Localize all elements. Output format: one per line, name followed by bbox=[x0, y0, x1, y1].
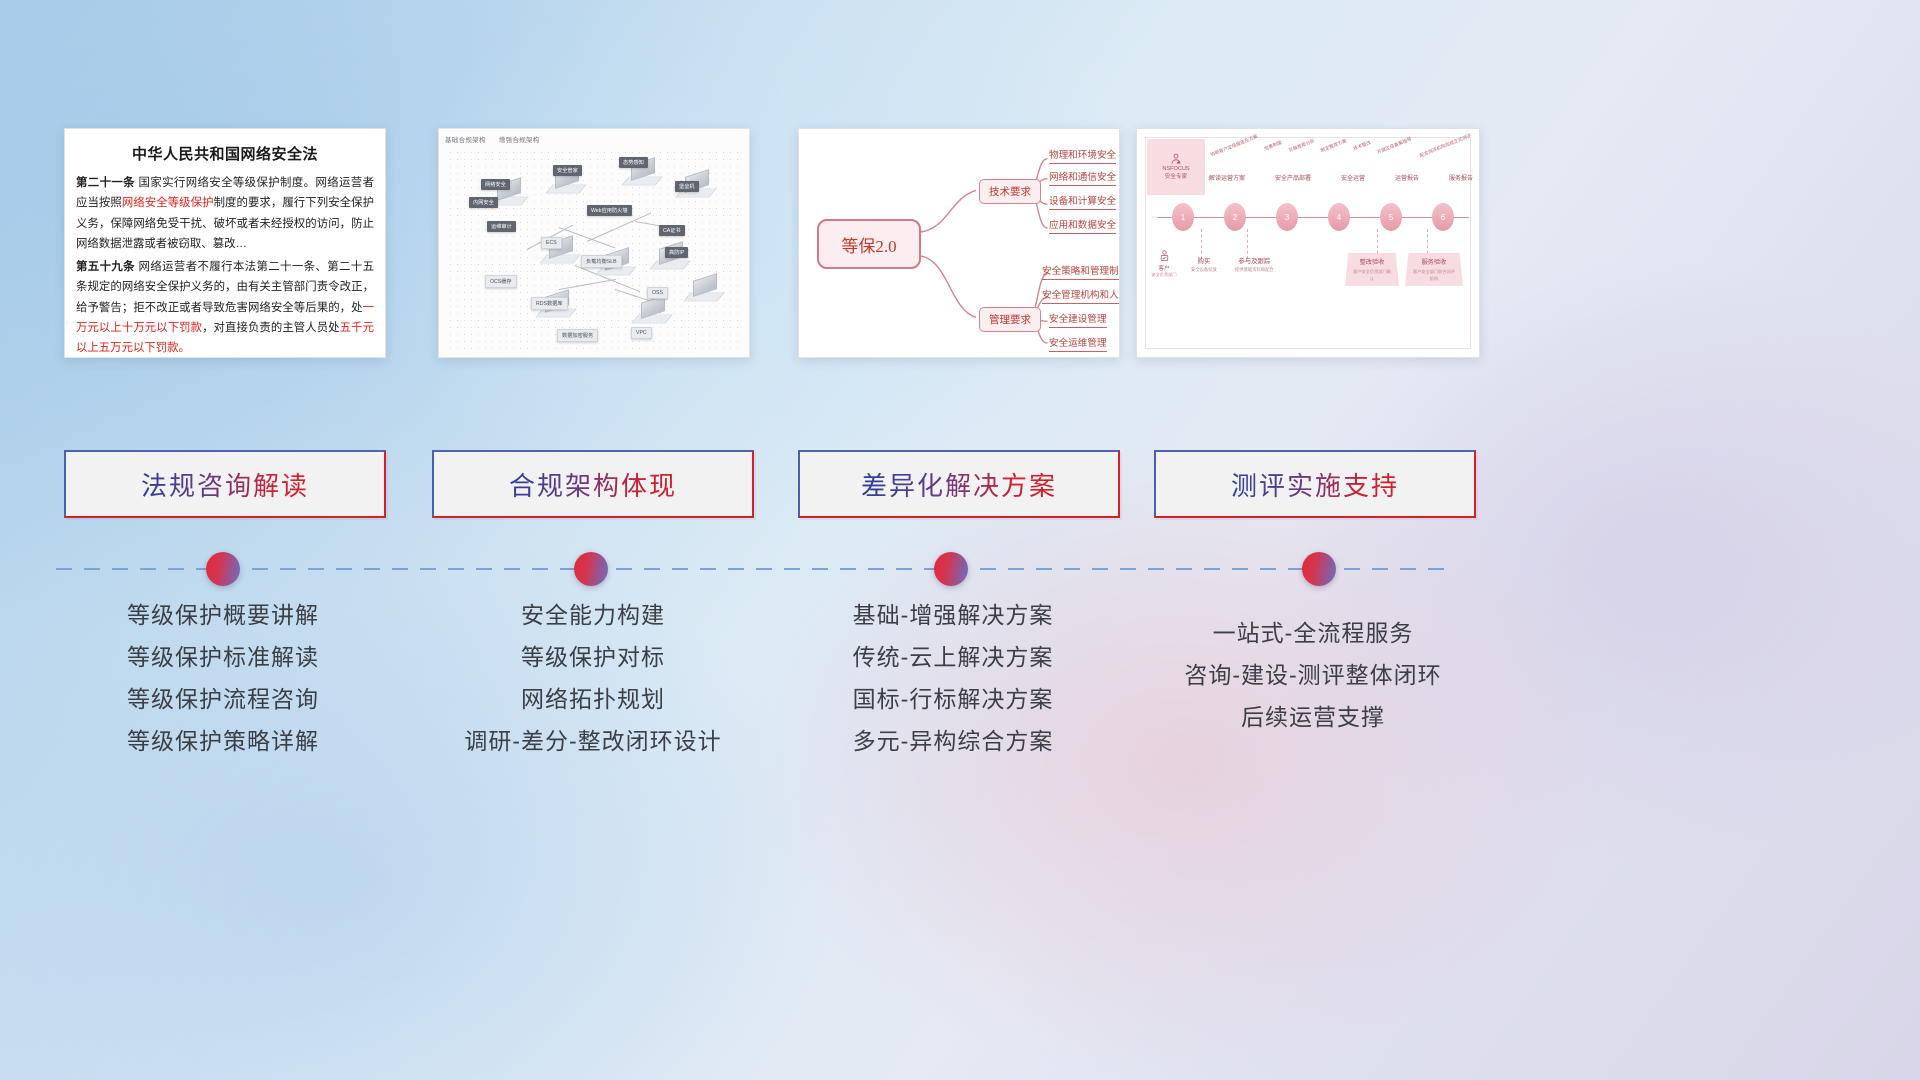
law-article-59-text-b: ，对直接负责的主管人员处 bbox=[202, 322, 340, 334]
arch-node: 负载均衡SLB bbox=[581, 255, 622, 268]
law-article-21-highlight: 网络安全等级保护 bbox=[122, 197, 214, 209]
arch-header-basic: 基础合规架构 bbox=[445, 137, 486, 144]
section-label-text: 差异化解决方案 bbox=[861, 466, 1057, 503]
nsfocus-bottom-trapezoid: 整改验收 客户安全负责部门确认 bbox=[1345, 253, 1399, 286]
section-label-text: 法规咨询解读 bbox=[141, 466, 309, 503]
nsfocus-mid-label: 安全产品部署 bbox=[1275, 173, 1311, 182]
mindmap-leaf: 安全策略和管理制度 bbox=[1042, 263, 1120, 280]
arch-node: Web应用防火墙 bbox=[587, 205, 632, 216]
section-list-2: 安全能力构建 等级保护对标 网络拓扑规划 调研-差分-整改闭环设计 bbox=[393, 604, 793, 772]
nsfocus-bottom-tag-sub: 提供基础资料和配合 bbox=[1235, 267, 1274, 273]
list-item: 传统-云上解决方案 bbox=[753, 646, 1153, 669]
nsfocus-bottom-tag-sub: 安全设备投放 bbox=[1191, 267, 1217, 273]
nsfocus-step: 1 bbox=[1172, 203, 1194, 231]
nsfocus-mid-label: 解读运营方案 bbox=[1209, 173, 1245, 182]
architecture-header-labels: 基础合规架构增强合规架构 bbox=[445, 134, 553, 144]
nsfocus-bottom-tag: 参与及跟踪 提供基础资料和配合 bbox=[1235, 257, 1274, 273]
arch-node: 内网安全 bbox=[469, 197, 498, 208]
mindmap-leaf: 网络和通信安全 bbox=[1049, 169, 1116, 186]
list-item: 国标-行标解决方案 bbox=[753, 688, 1153, 711]
card-mindmap-dengbao: 等保2.0 技术要求 管理要求 物理和环境安全 网络和通信安全 设备和计算安全 … bbox=[798, 128, 1120, 358]
timeline-dot-1[interactable] bbox=[206, 552, 240, 586]
nsfocus-dash bbox=[1247, 229, 1248, 259]
mindmap-leaf: 物理和环境安全 bbox=[1049, 147, 1116, 164]
arch-node: 堡垒机 bbox=[675, 181, 699, 192]
mindmap-root: 等保2.0 bbox=[817, 219, 921, 269]
nsfocus-step: 4 bbox=[1328, 203, 1350, 231]
mindmap: 等保2.0 技术要求 管理要求 物理和环境安全 网络和通信安全 设备和计算安全 … bbox=[799, 129, 1119, 357]
arch-node: VPC bbox=[631, 327, 652, 339]
nsfocus-customer-label: 客户 bbox=[1149, 264, 1179, 272]
section-label-box-2[interactable]: 合规架构体现 bbox=[432, 450, 754, 518]
arch-node: 网络安全 bbox=[481, 179, 510, 190]
law-article-59: 第五十九条 网络运营者不履行本法第二十一条、第二十五条规定的网络安全保护义务的，… bbox=[76, 257, 374, 358]
section-list-4: 一站式-全流程服务 咨询-建设-测评整体闭环 后续运营支撑 bbox=[1113, 622, 1513, 748]
nsfocus-bottom-trapezoid: 服务验收 客户安全部门联合测评机构 bbox=[1405, 253, 1463, 286]
list-item: 等级保护概要讲解 bbox=[23, 604, 423, 627]
nsfocus-bottom-tag-sub: 客户安全负责部门确认 bbox=[1353, 269, 1391, 282]
nsfocus-diagram: NSFOCUS 安全专家 协助客户定级报告及方案 完善制度 开展差距分析 制定整… bbox=[1137, 129, 1479, 357]
timeline-dot-3[interactable] bbox=[934, 552, 968, 586]
arch-node: 高防IP bbox=[665, 247, 688, 258]
arch-node: 运维审计 bbox=[487, 221, 516, 232]
nsfocus-step: 6 bbox=[1432, 203, 1454, 231]
arch-node: RDS数据库 bbox=[531, 297, 568, 310]
section-label-text: 测评实施支持 bbox=[1231, 466, 1399, 503]
nsfocus-customer: 客户 安全负责部门 bbox=[1149, 249, 1179, 278]
arch-node: CA证书 bbox=[659, 225, 685, 236]
nsfocus-mid-label: 服务报告 bbox=[1449, 173, 1473, 182]
section-list-1: 等级保护概要讲解 等级保护标准解读 等级保护流程咨询 等级保护策略详解 bbox=[23, 604, 423, 772]
nsfocus-bottom-tag-main: 服务验收 bbox=[1422, 259, 1447, 266]
section-label-box-4[interactable]: 测评实施支持 bbox=[1154, 450, 1476, 518]
law-article-21-label: 第二十一条 bbox=[76, 177, 135, 189]
timeline-dot-4[interactable] bbox=[1302, 552, 1336, 586]
architecture-diagram: 基础合规架构增强合规架构 bbox=[439, 129, 749, 357]
section-label-box-3[interactable]: 差异化解决方案 bbox=[798, 450, 1120, 518]
list-item: 等级保护策略详解 bbox=[23, 730, 423, 753]
nsfocus-brand-name: NSFOCUS bbox=[1162, 166, 1189, 174]
mindmap-leaf: 应用和数据安全 bbox=[1049, 217, 1116, 234]
nsfocus-mid-label: 安全运营 bbox=[1341, 173, 1365, 182]
section-label-text: 合规架构体现 bbox=[509, 466, 677, 503]
nsfocus-bottom-tag-sub: 客户安全部门联合测评机构 bbox=[1413, 269, 1455, 282]
nsfocus-bottom-tag-main: 参与及跟踪 bbox=[1238, 258, 1270, 265]
nsfocus-dash bbox=[1201, 229, 1202, 259]
law-article-59-label: 第五十九条 bbox=[76, 261, 135, 273]
nsfocus-mid-label: 运营报告 bbox=[1395, 173, 1419, 182]
arch-node: 安全管家 bbox=[553, 165, 582, 176]
timeline-dot-2[interactable] bbox=[574, 552, 608, 586]
list-item: 一站式-全流程服务 bbox=[1113, 622, 1513, 645]
person-check-icon bbox=[1158, 249, 1171, 262]
nsfocus-top-labels: 协助客户定级报告及方案 完善制度 开展差距分析 制定整改方案 技术整改 开展定级… bbox=[1209, 143, 1473, 149]
list-item: 等级保护流程咨询 bbox=[23, 688, 423, 711]
section-label-box-1[interactable]: 法规咨询解读 bbox=[64, 450, 386, 518]
timeline-dashed-line bbox=[56, 568, 1456, 570]
arch-node: OSS bbox=[647, 287, 668, 299]
list-item: 咨询-建设-测评整体闭环 bbox=[1113, 664, 1513, 687]
law-card-title: 中华人民共和国网络安全法 bbox=[65, 143, 385, 164]
nsfocus-bottom-tag-main: 整改验收 bbox=[1360, 259, 1385, 266]
list-item: 基础-增强解决方案 bbox=[753, 604, 1153, 627]
list-item: 调研-差分-整改闭环设计 bbox=[393, 730, 793, 753]
card-cybersecurity-law: 中华人民共和国网络安全法 第二十一条 国家实行网络安全等级保护制度。网络运营者应… bbox=[64, 128, 386, 358]
cards-row: 中华人民共和国网络安全法 第二十一条 国家实行网络安全等级保护制度。网络运营者应… bbox=[0, 0, 1920, 400]
nsfocus-step: 5 bbox=[1380, 203, 1402, 231]
arch-header-enhanced: 增强合规架构 bbox=[499, 137, 540, 144]
nsfocus-customer-sub: 安全负责部门 bbox=[1149, 272, 1179, 278]
list-item: 多元-异构综合方案 bbox=[753, 730, 1153, 753]
person-star-icon bbox=[1169, 152, 1183, 166]
mindmap-leaf: 安全建设管理 bbox=[1049, 311, 1107, 328]
mindmap-leaf: 安全运维管理 bbox=[1049, 335, 1107, 352]
list-item: 等级保护标准解读 bbox=[23, 646, 423, 669]
list-item: 网络拓扑规划 bbox=[393, 688, 793, 711]
list-item: 等级保护对标 bbox=[393, 646, 793, 669]
mindmap-leaf: 安全管理机构和人员 bbox=[1042, 287, 1120, 304]
law-card-body: 第二十一条 国家实行网络安全等级保护制度。网络运营者应当按照网络安全等级保护制度… bbox=[65, 173, 385, 358]
nsfocus-brand-sub: 安全专家 bbox=[1165, 174, 1187, 182]
nsfocus-mid-labels: 解读运营方案 安全产品部署 安全运营 运营报告 服务报告 bbox=[1209, 173, 1473, 182]
nsfocus-step: 2 bbox=[1224, 203, 1246, 231]
nsfocus-bottom-tag-main: 购买 bbox=[1198, 258, 1211, 265]
mindmap-branch-management: 管理要求 bbox=[979, 307, 1041, 332]
nsfocus-step: 3 bbox=[1276, 203, 1298, 231]
arch-node: ECS bbox=[541, 237, 562, 249]
arch-node: 态势感知 bbox=[619, 157, 648, 168]
card-nsfocus-process: NSFOCUS 安全专家 协助客户定级报告及方案 完善制度 开展差距分析 制定整… bbox=[1136, 128, 1480, 358]
arch-node: OCS缓存 bbox=[485, 275, 517, 288]
arch-node: 数据加密服务 bbox=[557, 329, 598, 342]
card-compliance-architecture: 基础合规架构增强合规架构 bbox=[438, 128, 750, 358]
section-list-3: 基础-增强解决方案 传统-云上解决方案 国标-行标解决方案 多元-异构综合方案 bbox=[753, 604, 1153, 772]
nsfocus-bottom-tag: 购买 安全设备投放 bbox=[1191, 257, 1217, 273]
law-article-21: 第二十一条 国家实行网络安全等级保护制度。网络运营者应当按照网络安全等级保护制度… bbox=[76, 173, 374, 254]
list-item: 安全能力构建 bbox=[393, 604, 793, 627]
mindmap-branch-technical: 技术要求 bbox=[979, 179, 1041, 204]
nsfocus-steps: 1 2 3 4 5 6 bbox=[1157, 203, 1469, 231]
list-item: 后续运营支撑 bbox=[1113, 706, 1513, 729]
mindmap-leaf: 设备和计算安全 bbox=[1049, 193, 1116, 210]
nsfocus-brand-banner: NSFOCUS 安全专家 bbox=[1147, 139, 1205, 195]
